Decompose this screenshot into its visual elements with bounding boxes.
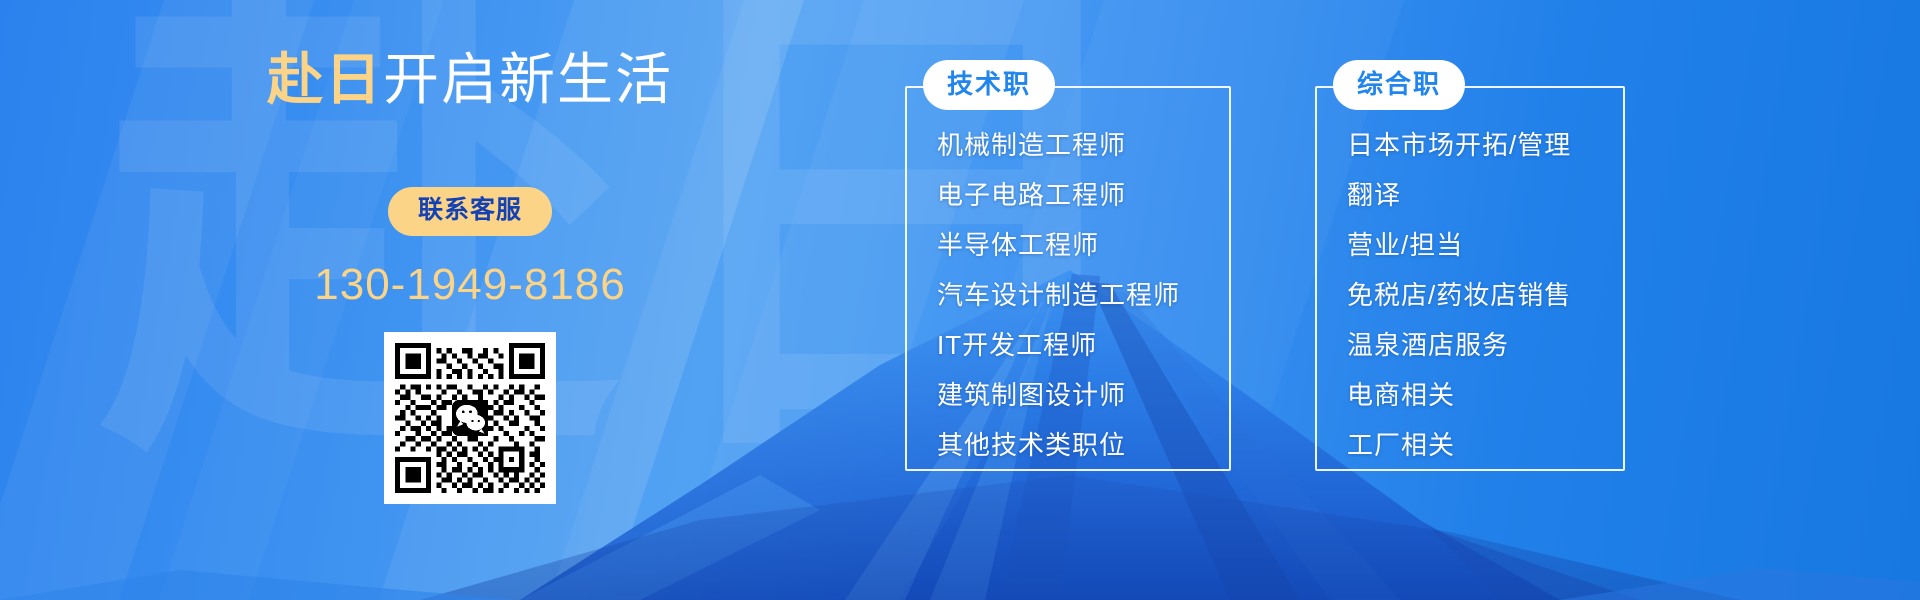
list-item[interactable]: 其他技术类职位 bbox=[937, 432, 1180, 458]
list-item[interactable]: 工厂相关 bbox=[1347, 432, 1571, 458]
panel-tag-technical[interactable]: 技术职 bbox=[923, 60, 1055, 110]
job-list-general: 日本市场开拓/管理 翻译 营业/担当 免税店/药妆店销售 温泉酒店服务 电商相关… bbox=[1347, 132, 1571, 458]
page-title-plain: 开启新生活 bbox=[383, 48, 673, 111]
phone-number[interactable]: 130-1949-8186 bbox=[150, 260, 790, 310]
list-item[interactable]: 建筑制图设计师 bbox=[937, 382, 1180, 408]
promo-banner: 赴日 bbox=[0, 0, 1920, 600]
contact-customer-service-button[interactable]: 联系客服 bbox=[388, 187, 552, 236]
list-item[interactable]: 翻译 bbox=[1347, 182, 1571, 208]
list-item[interactable]: 半导体工程师 bbox=[937, 232, 1180, 258]
panel-tag-general[interactable]: 综合职 bbox=[1333, 60, 1465, 110]
list-item[interactable]: IT开发工程师 bbox=[937, 332, 1180, 358]
page-title-accent: 赴日 bbox=[267, 48, 383, 111]
wechat-qr-code[interactable] bbox=[384, 332, 556, 504]
qr-code-image bbox=[395, 343, 545, 493]
job-list-technical: 机械制造工程师 电子电路工程师 半导体工程师 汽车设计制造工程师 IT开发工程师… bbox=[937, 132, 1180, 458]
left-contact-column: 赴日开启新生活 联系客服 130-1949-8186 bbox=[150, 0, 790, 600]
list-item[interactable]: 温泉酒店服务 bbox=[1347, 332, 1571, 358]
list-item[interactable]: 电商相关 bbox=[1347, 382, 1571, 408]
list-item[interactable]: 汽车设计制造工程师 bbox=[937, 282, 1180, 308]
list-item[interactable]: 营业/担当 bbox=[1347, 232, 1571, 258]
list-item[interactable]: 免税店/药妆店销售 bbox=[1347, 282, 1571, 308]
list-item[interactable]: 机械制造工程师 bbox=[937, 132, 1180, 158]
list-item[interactable]: 电子电路工程师 bbox=[937, 182, 1180, 208]
list-item[interactable]: 日本市场开拓/管理 bbox=[1347, 132, 1571, 158]
page-title: 赴日开启新生活 bbox=[150, 46, 790, 113]
